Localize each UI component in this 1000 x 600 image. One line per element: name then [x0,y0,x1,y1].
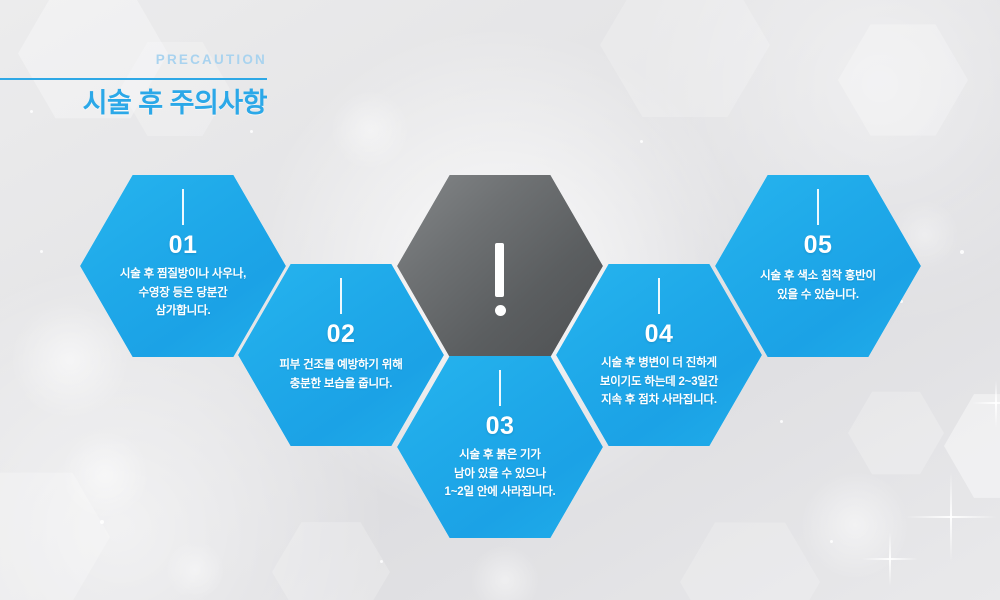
tick-marker [499,370,501,406]
background-sparkle [862,558,918,560]
background-dot [40,250,43,253]
step-number: 04 [556,320,762,349]
background-sparkle [905,516,997,518]
step-number: 02 [238,320,444,349]
step-text: 피부 건조를 예방하기 위해충분한 보습을 줍니다. [246,356,436,393]
background-hexagon-watermark [848,390,944,476]
background-dot [780,420,783,423]
header-rule [0,78,267,80]
tick-marker [182,189,184,225]
background-hexagon-watermark [944,392,1000,500]
tick-marker [817,189,819,225]
background-hexagon-watermark [600,0,770,120]
tick-marker [658,278,660,314]
background-dot [960,250,964,254]
eyebrow-label: PRECAUTION [0,52,267,67]
step-number: 03 [397,412,603,441]
background-bokeh [470,545,540,600]
background-dot [640,140,643,143]
background-bokeh [330,90,410,170]
step-number: 01 [80,231,286,260]
hexagon-card-03[interactable]: 03 시술 후 붉은 기가남아 있을 수 있으나1~2일 안에 사라집니다. [397,356,603,538]
step-number: 05 [715,231,921,260]
step-text: 시술 후 붉은 기가남아 있을 수 있으나1~2일 안에 사라집니다. [405,446,595,502]
background-dot [380,560,383,563]
background-hexagon-watermark [680,520,820,600]
step-text: 시술 후 색소 침착 홍반이있을 수 있습니다. [723,267,913,304]
tick-marker [340,278,342,314]
background-hexagon-watermark [838,22,968,138]
step-text: 시술 후 병변이 더 진하게보이기도 하는데 2~3일간지속 후 점차 사라집니… [564,354,754,410]
infographic-slide: PRECAUTION 시술 후 주의사항 01 시술 후 찜질방이나 사우나,수… [0,0,1000,600]
background-dot [830,540,833,543]
background-hexagon-watermark [272,520,390,600]
background-sparkle [950,472,952,562]
page-title: 시술 후 주의사항 [0,81,267,120]
exclamation-icon [495,243,504,297]
step-text: 시술 후 찜질방이나 사우나,수영장 등은 당분간삼가합니다. [88,265,278,321]
background-sparkle [995,380,997,428]
background-bokeh [60,430,150,520]
background-hexagon-watermark [0,470,110,600]
background-dot [250,130,253,133]
background-bokeh [165,540,225,600]
background-sparkle [972,402,1000,404]
background-sparkle [889,532,891,586]
background-bokeh [800,470,910,580]
background-dot [100,520,104,524]
exclamation-dot-icon [495,305,506,316]
